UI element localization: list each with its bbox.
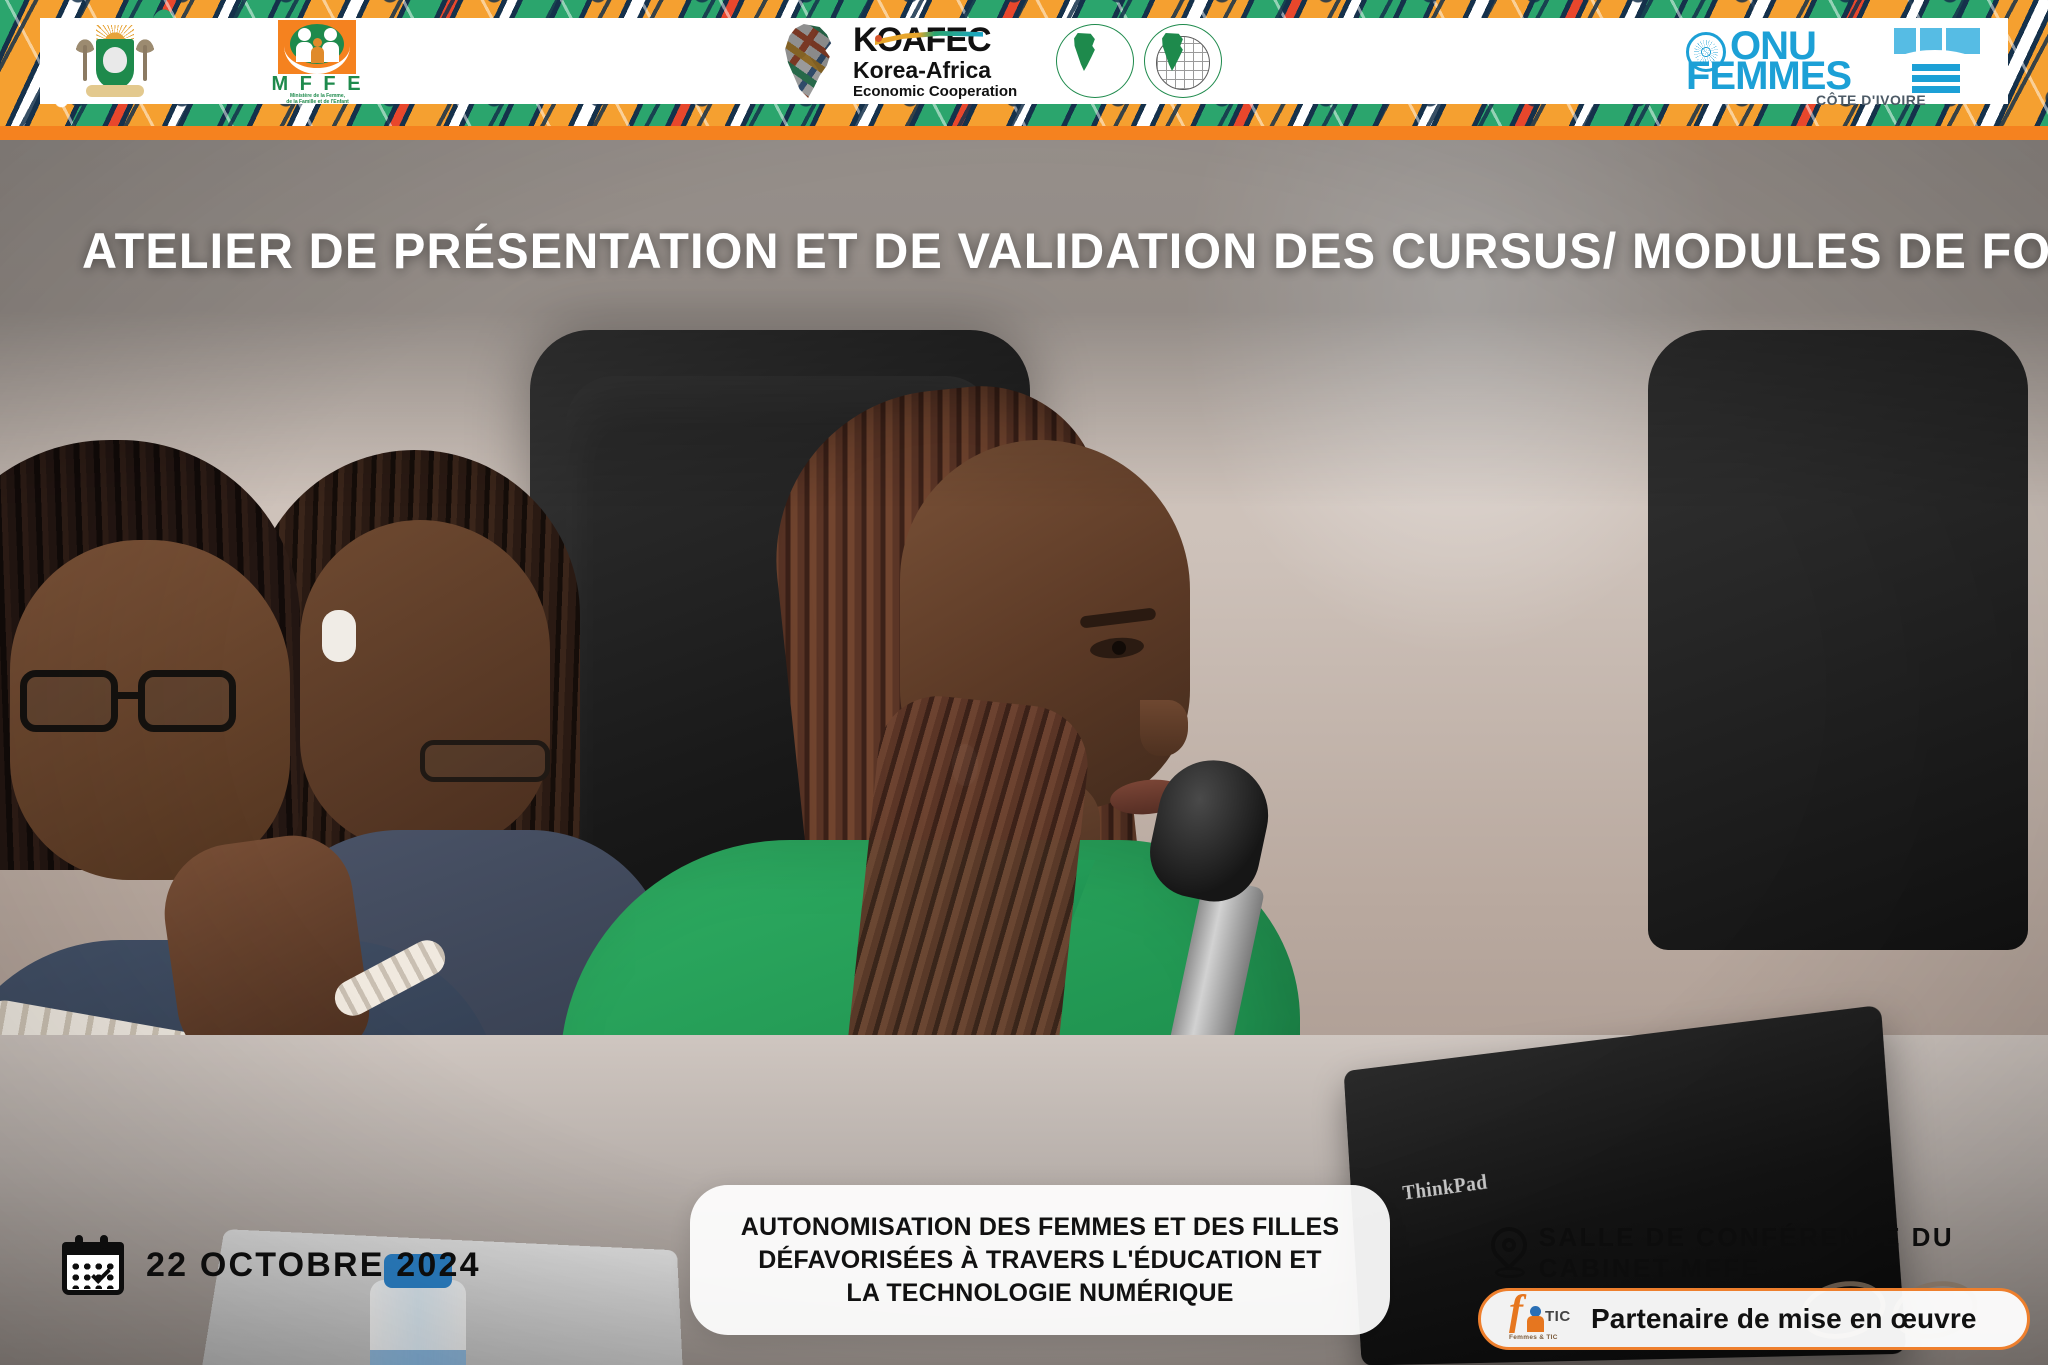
event-photo: ThinkPad xyxy=(0,140,2048,1365)
african-development-fund-logo xyxy=(1144,24,1222,98)
un-women-mark-bar3 xyxy=(1912,86,1960,93)
mffe-parent-head-1 xyxy=(298,28,311,41)
afdb-ring xyxy=(1056,24,1134,98)
mffe-parent-head-2 xyxy=(324,28,337,41)
implementing-partner-bar: f TIC Femmes & TIC Partenaire de mise en… xyxy=(1478,1288,2030,1350)
mffe-subtitle-line1: Ministère de la Femme, xyxy=(290,93,345,99)
fic-person-body-icon xyxy=(1527,1316,1544,1332)
mffe-subtitle-line2: de la Famille et de l'Enfant xyxy=(286,99,349,105)
person-2-glasses xyxy=(420,740,550,782)
event-date-text: 22 OCTOBRE 2024 xyxy=(146,1246,481,1285)
palm-tree-icon-right xyxy=(134,35,156,83)
bottle-label xyxy=(370,1350,466,1365)
person-1-glasses xyxy=(20,670,250,736)
koafec-africa-mosaic-icon xyxy=(775,24,847,98)
koafec-wordmark-text: KOAFEC xyxy=(853,21,991,59)
person-2-head xyxy=(300,520,550,850)
koafec-dot-icon xyxy=(875,35,882,42)
koafec-line2: Korea-Africa xyxy=(853,59,1017,82)
fic-subtitle: Femmes & TIC xyxy=(1509,1334,1558,1341)
speaker-nose xyxy=(1140,700,1188,756)
palm-tree-icon-left xyxy=(74,35,96,83)
location-pin-icon xyxy=(1488,1227,1523,1279)
subtitle-line-1: AUTONOMISATION DES FEMMES ET DES FILLES xyxy=(741,1213,1340,1241)
event-date: 22 OCTOBRE 2024 xyxy=(62,1235,481,1295)
thinkpad-logo-text: ThinkPad xyxy=(1401,1169,1488,1204)
fic-f-mark: f xyxy=(1509,1290,1523,1332)
implementing-partner-label: Partenaire de mise en œuvre xyxy=(1591,1303,1977,1335)
calendar-ring-right xyxy=(100,1235,108,1249)
mffe-acronym: M F F E xyxy=(270,74,365,94)
un-women-mark-bar1 xyxy=(1912,64,1960,71)
subtitle-line-3: LA TECHNOLOGIE NUMÉRIQUE xyxy=(846,1279,1233,1307)
event-location: SALLE DE CONFÉRENCE DU CABINET MFFE xyxy=(1488,1222,2048,1284)
person-1-lens-right xyxy=(138,670,236,732)
thinkpad-logo: ThinkPad xyxy=(1401,1169,1488,1205)
calendar-icon xyxy=(62,1235,124,1295)
mffe-logo: M F F E Ministère de la Femme, de la Fam… xyxy=(270,20,365,104)
subtitle-pill: AUTONOMISATION DES FEMMES ET DES FILLES … xyxy=(690,1185,1390,1335)
un-women-logo: ONU FEMMES CÔTE D'IVOIRE xyxy=(1686,22,1986,102)
event-poster: M F F E Ministère de la Femme, de la Fam… xyxy=(0,0,2048,1365)
calendar-ring-left xyxy=(75,1235,83,1249)
person-1-lens-left xyxy=(20,670,118,732)
ribbon-icon xyxy=(86,85,144,97)
mffe-subtitle: Ministère de la Femme, de la Famille et … xyxy=(270,93,365,106)
header-orange-strip xyxy=(0,126,2048,140)
fic-tic-text: TIC xyxy=(1545,1308,1571,1325)
koafec-wordmark: KOAFEC xyxy=(853,23,1017,57)
elephant-head-icon xyxy=(103,47,127,73)
un-women-mark-bar2 xyxy=(1912,75,1960,82)
un-women-line2: FEMMES xyxy=(1686,56,1851,96)
event-location-text: SALLE DE CONFÉRENCE DU CABINET MFFE xyxy=(1539,1222,2048,1284)
pin-base-ellipse xyxy=(1495,1267,1525,1278)
cote-divoire-coat-of-arms xyxy=(70,23,160,101)
koafec-line3: Economic Cooperation xyxy=(853,84,1017,99)
calendar-header-bar xyxy=(62,1242,124,1255)
office-chair-right xyxy=(1648,330,2028,950)
koafec-logo: KOAFEC Korea-Africa Economic Cooperation xyxy=(775,22,1017,100)
african-development-bank-logo xyxy=(1056,24,1134,98)
femmes-et-tic-logo: f TIC Femmes & TIC xyxy=(1503,1292,1573,1346)
un-women-country: CÔTE D'IVOIRE xyxy=(1816,92,1926,108)
pin-hole xyxy=(1502,1238,1516,1252)
logo-row: M F F E Ministère de la Femme, de la Fam… xyxy=(40,18,2008,104)
page-title: ATELIER DE PRÉSENTATION ET DE VALIDATION… xyxy=(82,222,1935,280)
subtitle-line-2: DÉFAVORISÉES À TRAVERS L'ÉDUCATION ET xyxy=(758,1246,1321,1274)
person-2-earbud xyxy=(322,610,356,662)
person-1-glasses-bridge xyxy=(118,692,140,699)
header-banner: M F F E Ministère de la Femme, de la Fam… xyxy=(0,0,2048,140)
un-women-mark-icon xyxy=(1890,28,1980,90)
koafec-text: KOAFEC Korea-Africa Economic Cooperation xyxy=(853,23,1017,99)
